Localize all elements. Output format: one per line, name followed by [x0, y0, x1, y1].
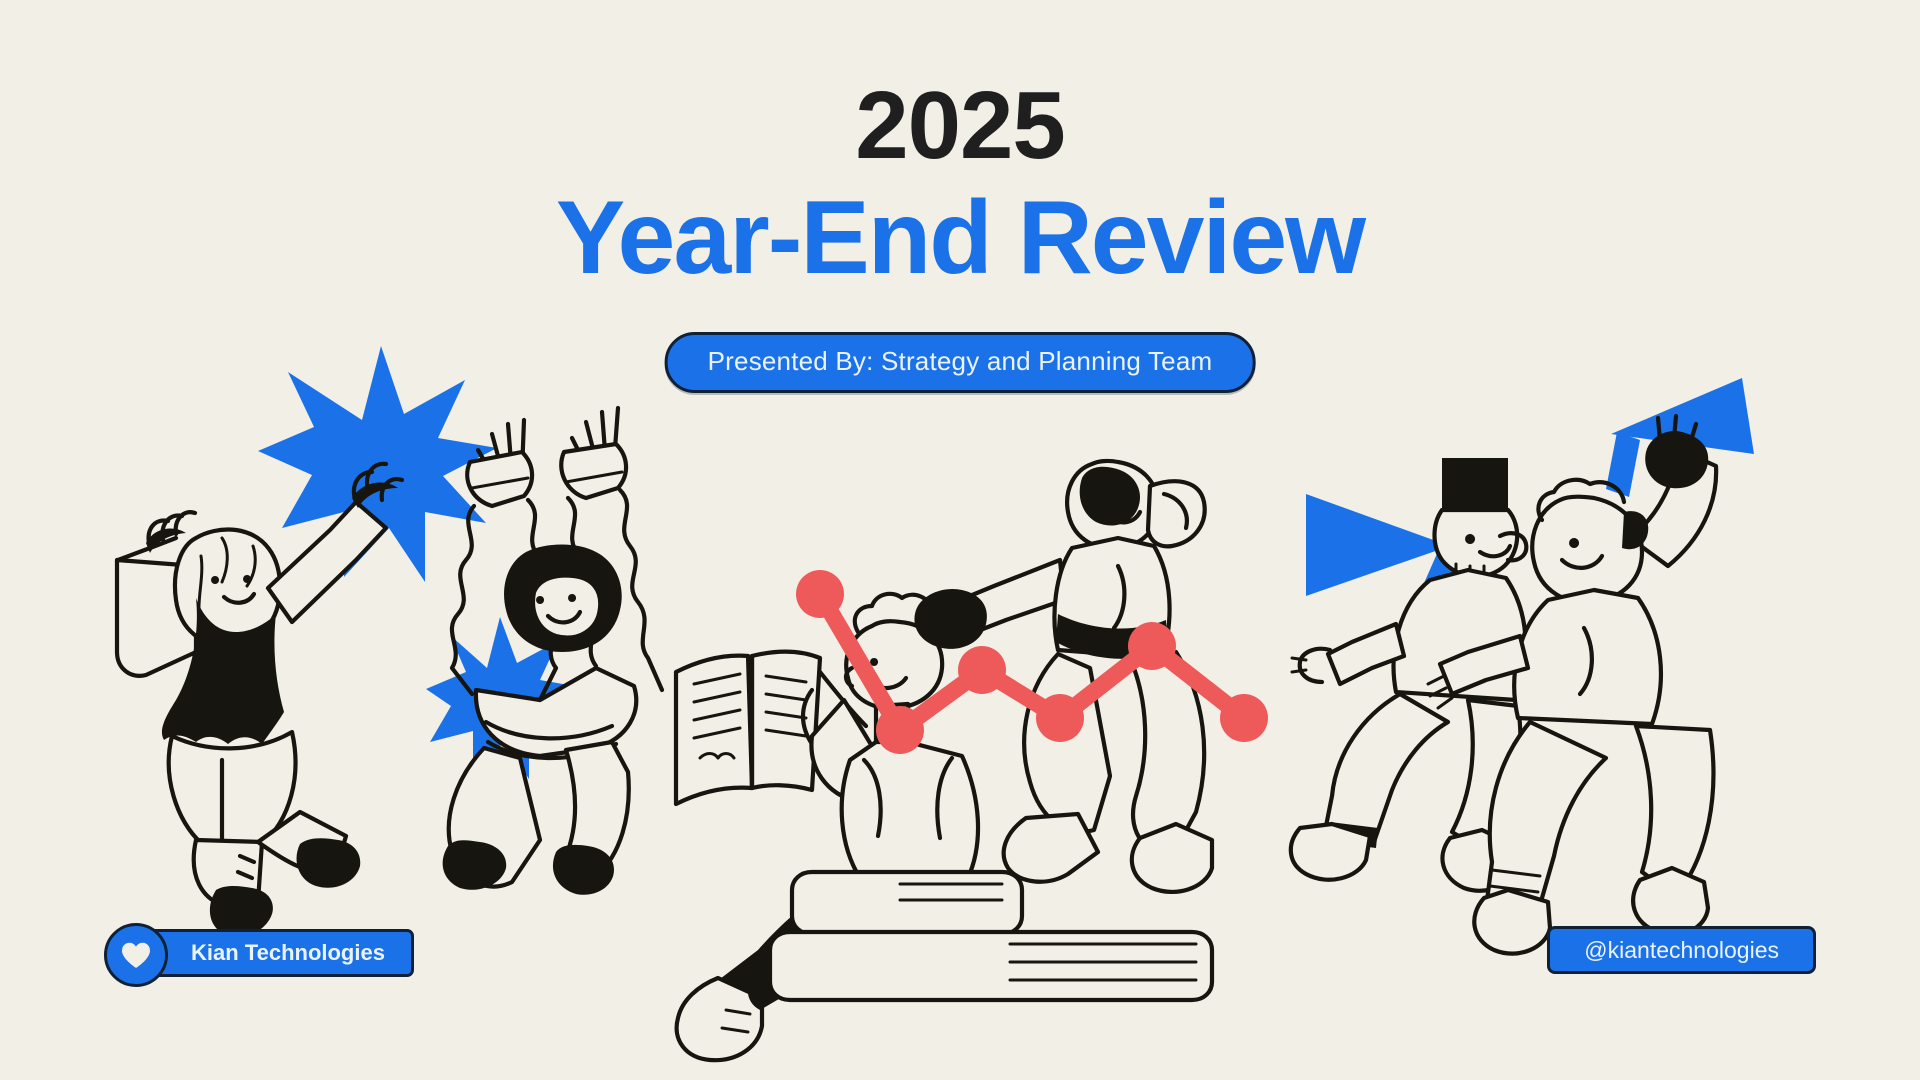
chart-point-2	[876, 706, 924, 754]
open-book-illustration	[676, 652, 820, 804]
year-heading: 2025	[0, 78, 1920, 174]
slide-canvas: 2025 Year-End Review Presented By: Strat…	[0, 0, 1920, 1080]
growth-line-chart	[796, 570, 1268, 754]
brand-badge[interactable]: Kian Technologies	[104, 932, 414, 974]
megaphone-left-icon	[1306, 494, 1488, 607]
figure-cheering-woman	[117, 464, 402, 937]
chart-point-5	[1128, 622, 1176, 670]
figure-sitting-reader	[677, 594, 978, 1060]
presenter-badge: Presented By: Strategy and Planning Team	[665, 332, 1256, 393]
chart-point-4	[1036, 694, 1084, 742]
heart-icon	[104, 923, 168, 987]
title-block: 2025 Year-End Review	[0, 78, 1920, 294]
chart-point-1	[796, 570, 844, 618]
figure-megaphone-holder	[1291, 458, 1526, 891]
chart-point-6	[1220, 694, 1268, 742]
figure-jumping-person	[443, 408, 662, 895]
chart-point-3	[958, 646, 1006, 694]
illustration-artwork	[0, 0, 1920, 1080]
book-stack-illustration	[770, 872, 1212, 1000]
figure-waving-person	[1428, 416, 1716, 954]
social-handle-badge[interactable]: @kiantechnologies	[1547, 926, 1816, 974]
figure-standing-presenter	[896, 461, 1212, 892]
megaphone-right-icon	[1606, 378, 1754, 497]
starburst-small-icon	[426, 617, 580, 779]
brand-name: Kian Technologies	[132, 929, 414, 977]
starburst-large-icon	[258, 346, 497, 582]
page-title: Year-End Review	[0, 182, 1920, 294]
